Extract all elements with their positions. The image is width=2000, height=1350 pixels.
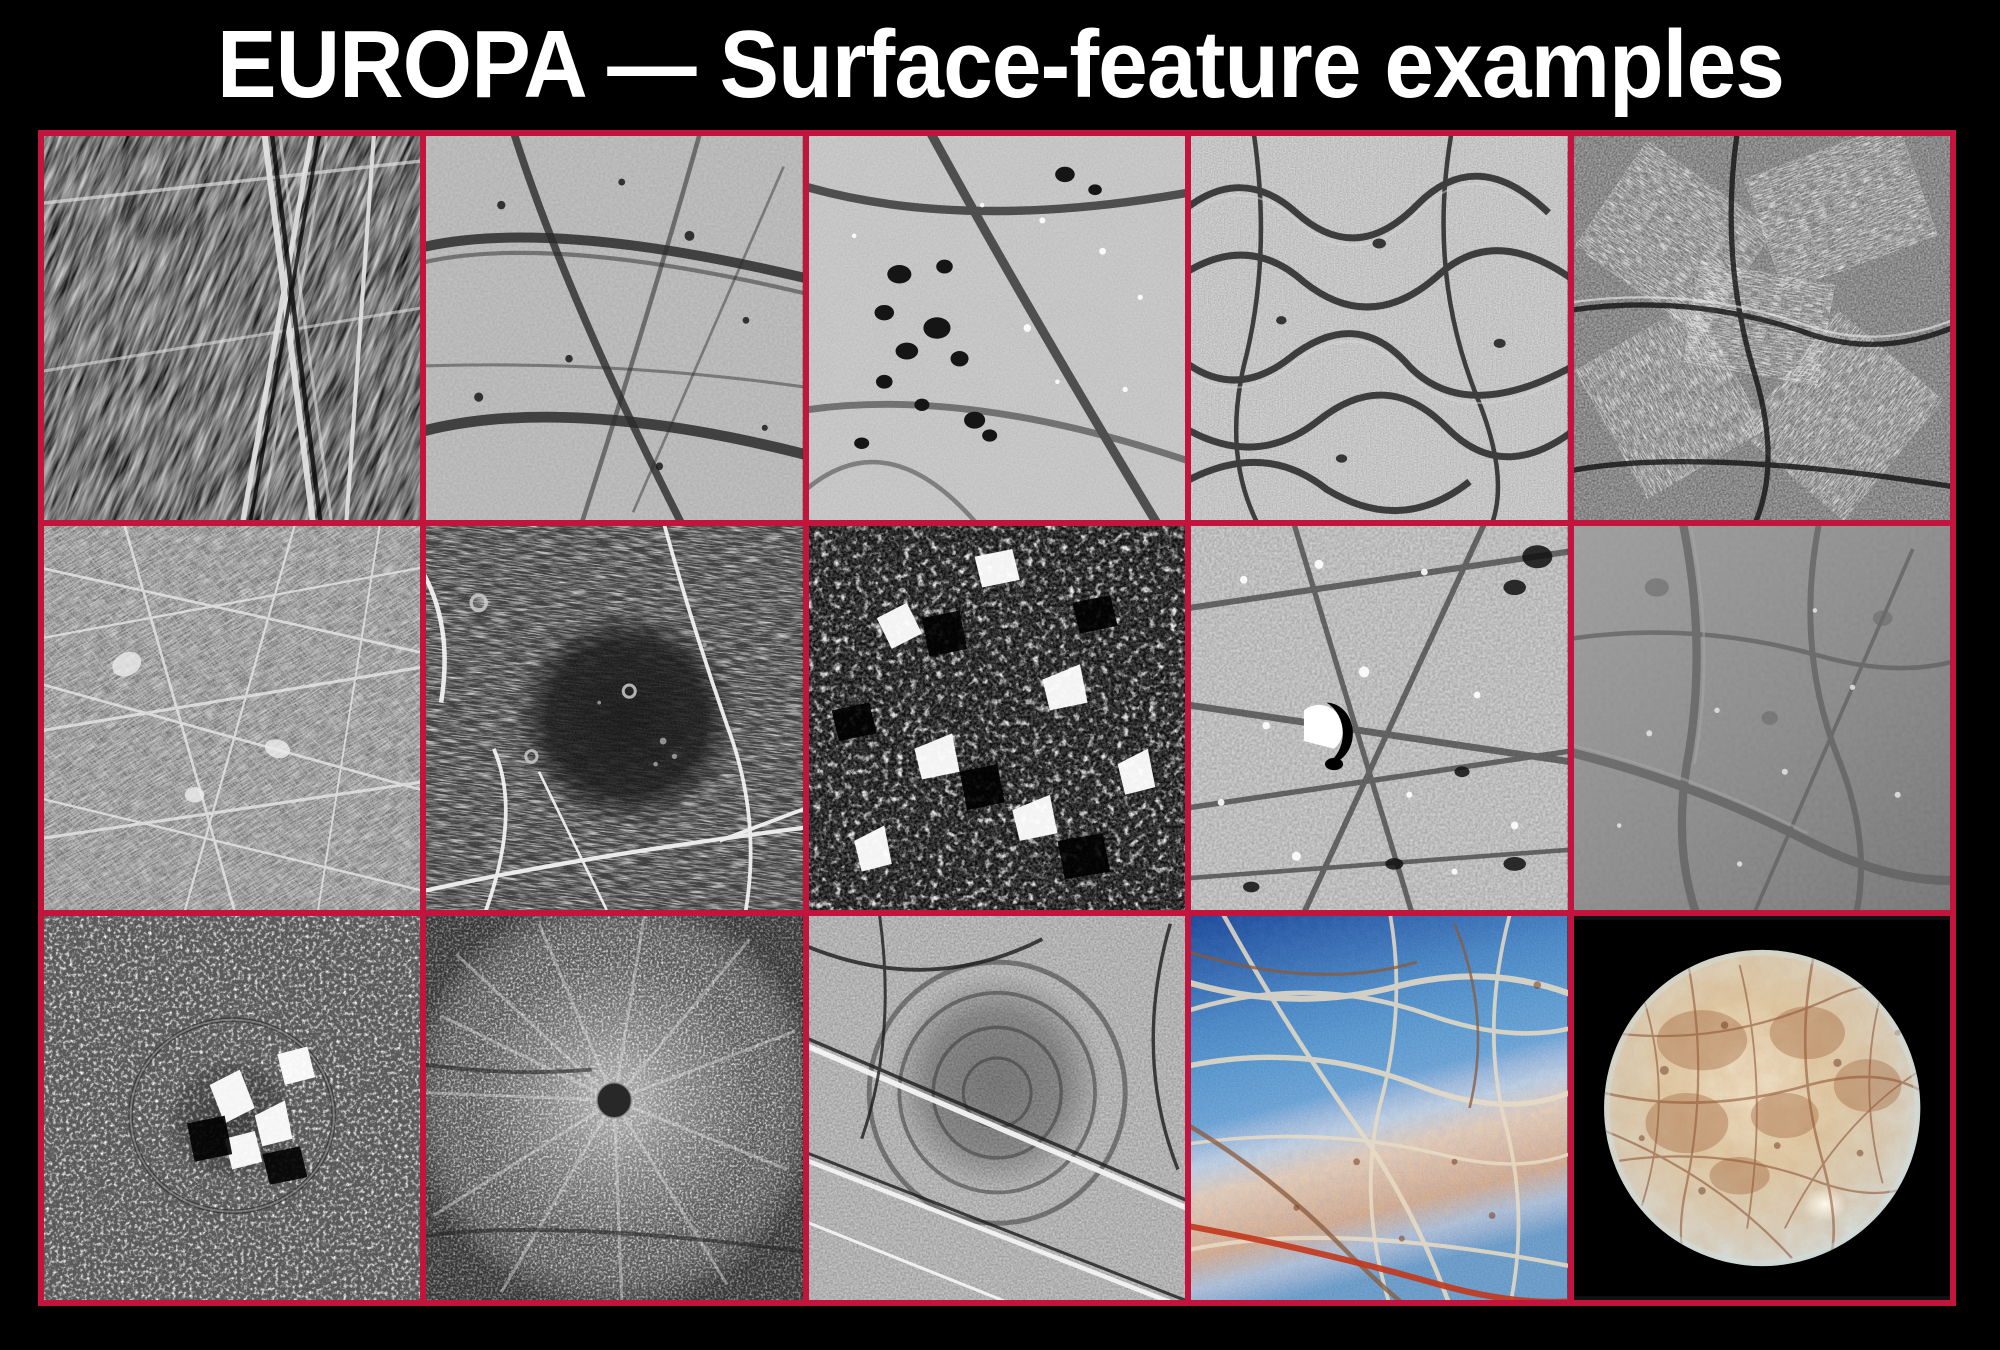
tile-high-relief-chaos-knobs[interactable]: High-contrast knobby chaos with bright b… bbox=[809, 526, 1185, 910]
tile-cycloid-arcuate-ridges[interactable]: Cycloidal arcuate ridges on cratered pla… bbox=[1191, 136, 1567, 520]
texture-cycloid-arcuate-ridges bbox=[1191, 136, 1567, 520]
texture-cratered-plain-bright-halo bbox=[1191, 526, 1567, 910]
title-bar: EUROPA — Surface-feature examples bbox=[0, 0, 2000, 130]
tile-dome-uplift-in-chaos[interactable]: Circular dome / uplift within chaos text… bbox=[44, 916, 420, 1300]
tile-smooth-dark-plain-inside-ridges[interactable]: Smooth dark plain framed by radial ridge… bbox=[426, 526, 802, 910]
texture-dome-uplift-in-chaos bbox=[44, 916, 420, 1300]
tile-crosscutting-lineaments[interactable]: Dense cross-cutting lineament network bbox=[44, 526, 420, 910]
tile-lenticulae-pits-spots[interactable]: Mottled terrain with dark pits and spots bbox=[809, 136, 1185, 520]
texture-chaos-blocks-rafts bbox=[1574, 136, 1950, 520]
tile-europa-globe-full-disk[interactable]: Full-disk natural-color view of Europa bbox=[1574, 916, 1950, 1300]
texture-high-relief-chaos-knobs bbox=[809, 526, 1185, 910]
tile-dark-bands-triple-bands[interactable]: Bright icy plain cut by dark triple band… bbox=[426, 136, 802, 520]
page-title: EUROPA — Surface-feature examples bbox=[217, 17, 1784, 113]
europa-poster: EUROPA — Surface-feature examples Ridged… bbox=[0, 0, 2000, 1350]
tile-cratered-plain-bright-halo[interactable]: Cratered plain with bright-rimmed small … bbox=[1191, 526, 1567, 910]
tile-false-color-lineae-chaos[interactable]: Enhanced-color view: blue ice plains, ru… bbox=[1191, 916, 1567, 1300]
surface-feature-mosaic: Ridged plains crossed by bright double r… bbox=[38, 130, 1956, 1306]
tile-rayed-impact-crater[interactable]: Rayed impact crater with dark central pi… bbox=[426, 916, 802, 1300]
tile-chaos-blocks-rafts[interactable]: Chaos terrain: tilted ice rafts and matr… bbox=[1574, 136, 1950, 520]
texture-false-color-lineae-chaos bbox=[1191, 916, 1567, 1300]
texture-rayed-impact-crater bbox=[426, 916, 802, 1300]
tile-low-contrast-smooth-plain[interactable]: Low-contrast smooth plain with faint tro… bbox=[1574, 526, 1950, 910]
tile-multiring-palimpsest[interactable]: Multi-ring impact structure cut by brigh… bbox=[809, 916, 1185, 1300]
texture-dark-bands-triple-bands bbox=[426, 136, 802, 520]
texture-low-contrast-smooth-plain bbox=[1574, 526, 1950, 910]
texture-europa-globe-full-disk bbox=[1574, 916, 1950, 1300]
tile-ridged-plains-lineae[interactable]: Ridged plains crossed by bright double r… bbox=[44, 136, 420, 520]
texture-multiring-palimpsest bbox=[809, 916, 1185, 1300]
texture-smooth-dark-plain-inside-ridges bbox=[426, 526, 802, 910]
texture-ridged-plains-lineae bbox=[44, 136, 420, 520]
texture-lenticulae-pits-spots bbox=[809, 136, 1185, 520]
texture-crosscutting-lineaments bbox=[44, 526, 420, 910]
